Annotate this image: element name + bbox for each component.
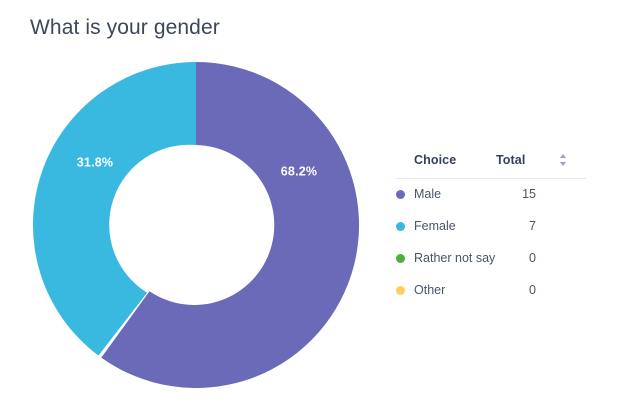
legend-label-male: Male <box>414 187 441 201</box>
table-row[interactable]: Female 7 <box>396 211 586 243</box>
table-row[interactable]: Other 0 <box>396 275 586 307</box>
legend-label-rather-not-say: Rather not say <box>414 251 495 265</box>
legend-total-female: 7 <box>529 219 536 233</box>
legend-color-dot-rather-not-say <box>396 254 405 263</box>
column-header-choice[interactable]: Choice <box>414 153 456 167</box>
survey-result-panel: What is your gender 68.2% 31.8% Choice T… <box>0 0 620 410</box>
donut-chart-svg: 68.2% 31.8% <box>0 50 392 402</box>
slice-label-male: 68.2% <box>281 164 317 178</box>
page-title: What is your gender <box>30 16 220 40</box>
legend-table-header: Choice Total <box>396 148 586 179</box>
legend-color-dot-other <box>396 286 405 295</box>
legend-color-dot-female <box>396 222 405 231</box>
legend-table: Choice Total Male 15 Female 7 Rather not… <box>396 148 586 307</box>
sort-caret-down-icon <box>560 162 566 166</box>
slice-label-female: 31.8% <box>77 155 113 169</box>
donut-chart: 68.2% 31.8% <box>0 50 392 402</box>
legend-color-dot-male <box>396 190 405 199</box>
legend-total-other: 0 <box>529 283 536 297</box>
sort-updown-icon[interactable] <box>558 153 568 167</box>
table-row[interactable]: Male 15 <box>396 179 586 211</box>
legend-label-other: Other <box>414 283 445 297</box>
legend-total-male: 15 <box>522 187 536 201</box>
table-row[interactable]: Rather not say 0 <box>396 243 586 275</box>
legend-label-female: Female <box>414 219 456 233</box>
column-header-total[interactable]: Total <box>496 153 525 167</box>
legend-total-rather-not-say: 0 <box>529 251 536 265</box>
sort-caret-up-icon <box>560 154 566 158</box>
